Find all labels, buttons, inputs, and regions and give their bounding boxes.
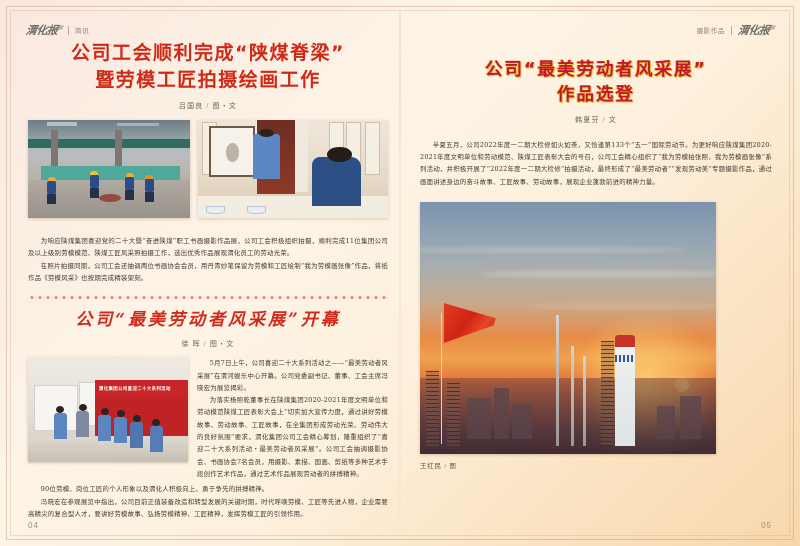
- article-3-body: 半夏五月，公司2022年度一二期大检修如火如荼，又恰逢第133个“五一”国际劳动…: [420, 139, 772, 188]
- article-2-photo-wrap: 渭化集团公司喜迎二十大系列活动: [28, 357, 188, 462]
- article-2-body-top: 5月7日上午，公司喜迎二十大系列活动之——“最美劳动者风采展”在渭河娱乐中心开幕…: [197, 357, 388, 480]
- article-3-photo-caption: 王红民 / 图: [420, 460, 772, 470]
- photo-sunset-plant-flag: [420, 202, 716, 454]
- article-1-photo-caption: [28, 224, 388, 231]
- article-1-paragraph-1: 为响应陕煤集团喜迎党的二十大暨“奋进陕煤”职工书画摄影作品展，公司工会积极组织拍…: [28, 235, 388, 260]
- photo-painting-studio: [198, 120, 388, 218]
- photo-workers-shooting: [28, 120, 190, 218]
- headline-line-1: 公司工会顺利完成“陕煤脊梁”: [28, 40, 388, 67]
- magazine-spread: 渭化报苑 简讯 摄影作品 渭化报苑 公司工会顺利完成“陕煤脊梁” 暨劳模工匠拍摄…: [0, 0, 800, 546]
- page-gutter: [399, 10, 401, 536]
- article-2-paragraph-3: 90位劳模、岗位工匠的个人形象以及渭化人积极向上、勇于争先的拼搏精神。: [28, 483, 388, 495]
- running-head-divider-left: [68, 26, 69, 35]
- headline-line-2: 作品选登: [420, 83, 772, 108]
- article-1-paragraph-2: 在照片拍摄同期，公司工会还抽调两位书画协会会员，用丹青妙笔保留为劳模和工匠绘制“…: [28, 260, 388, 285]
- running-head-label-left: 简讯: [75, 25, 89, 35]
- page-number-right: 05: [761, 521, 772, 530]
- page-number-left: 04: [28, 521, 39, 530]
- article-2-paragraph-2: 为落实杨照乾董事长在陕煤集团2020-2021年度文明单位和劳动模范陕煤工匠表彰…: [197, 394, 388, 480]
- article-1-headline: 公司工会顺利完成“陕煤脊梁” 暨劳模工匠拍摄绘画工作: [28, 40, 388, 94]
- article-1: 公司工会顺利完成“陕煤脊梁” 暨劳模工匠拍摄绘画工作 吕国良 / 图・文: [28, 40, 388, 284]
- article-3-headline: 公司“最美劳动者风采展” 作品选登: [420, 58, 772, 108]
- headline-line-2: 暨劳模工匠拍摄绘画工作: [28, 67, 388, 94]
- photo-exhibition-hall: 渭化集团公司喜迎二十大系列活动: [28, 357, 188, 462]
- left-page: 公司工会顺利完成“陕煤脊梁” 暨劳模工匠拍摄绘画工作 吕国良 / 图・文: [28, 40, 388, 512]
- article-2-byline: 徐 晖 / 图・文: [28, 339, 388, 349]
- article-3-paragraph-1: 半夏五月，公司2022年度一二期大检修如火如荼，又恰逢第133个“五一”国际劳动…: [420, 139, 772, 188]
- headline-line-1: 公司“最美劳动者风采展”: [420, 58, 772, 83]
- running-head-left: 渭化报苑 简讯: [26, 22, 89, 38]
- right-page: 公司“最美劳动者风采展” 作品选登 韩夏芬 / 文 半夏五月，公司2022年度一…: [420, 40, 772, 512]
- running-head-divider-right: [731, 26, 732, 35]
- article-3: 公司“最美劳动者风采展” 作品选登 韩夏芬 / 文 半夏五月，公司2022年度一…: [420, 58, 772, 470]
- ornamental-divider: [28, 293, 388, 302]
- masthead-logo-right: 渭化报苑: [737, 22, 775, 38]
- article-2-paragraph-1: 5月7日上午，公司喜迎二十大系列活动之——“最美劳动者风采展”在渭河娱乐中心开幕…: [197, 357, 388, 394]
- article-3-byline: 韩夏芬 / 文: [420, 115, 772, 125]
- running-head-right: 摄影作品 渭化报苑: [697, 22, 774, 38]
- headline-line-1: 公司“最美劳动者风采展”开幕: [75, 310, 341, 330]
- article-2-body-bottom: 90位劳模、岗位工匠的个人形象以及渭化人积极向上、勇于争先的拼搏精神。 冯晓宏在…: [28, 483, 388, 520]
- article-1-byline: 吕国良 / 图・文: [28, 101, 388, 111]
- article-2-headline: 公司“最美劳动者风采展”开幕: [28, 308, 388, 332]
- article-1-body: 为响应陕煤集团喜迎党的二十大暨“奋进陕煤”职工书画摄影作品展，公司工会积极组织拍…: [28, 235, 388, 284]
- article-2-paragraph-4: 冯晓宏在参观展览中指出，公司目前正值装备改造和转型发展的关键时期，时代呼唤劳模、…: [28, 496, 388, 521]
- article-2-flow: 渭化集团公司喜迎二十大系列活动 5月7日上午，公司喜迎二: [28, 357, 388, 480]
- running-head-label-right: 摄影作品: [697, 25, 725, 35]
- article-2: 公司“最美劳动者风采展”开幕 徐 晖 / 图・文 渭化集团公司喜迎二十大系列活动: [28, 308, 388, 520]
- exhibition-banner-text: 渭化集团公司喜迎二十大系列活动: [99, 386, 171, 392]
- masthead-logo-left: 渭化报苑: [25, 22, 63, 38]
- article-1-photo-row: [28, 120, 388, 218]
